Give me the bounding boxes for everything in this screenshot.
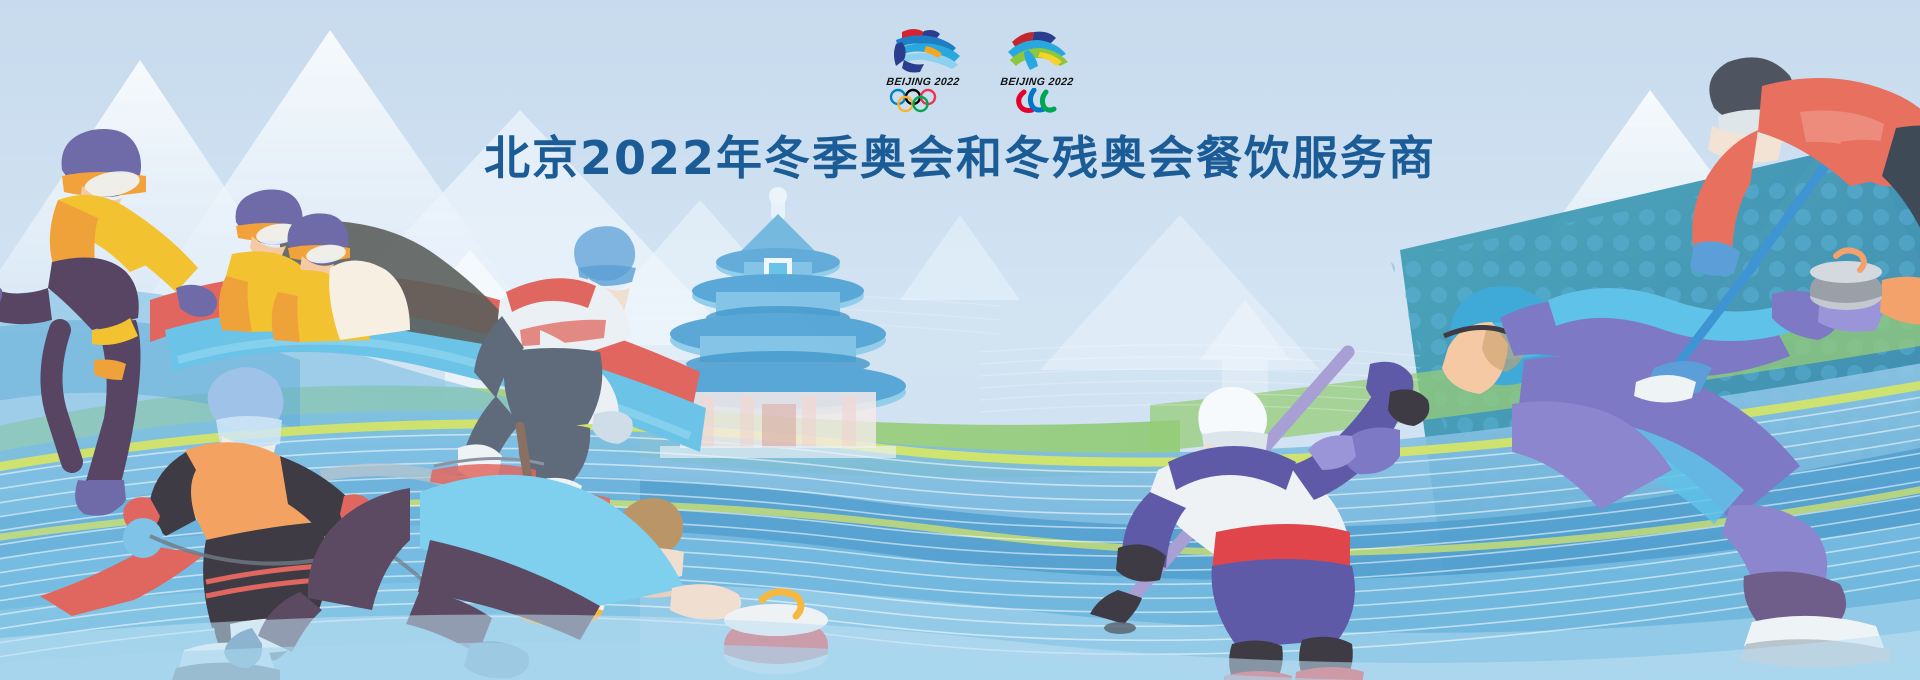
olympic-wordmark: BEIJING 2022: [879, 76, 966, 88]
paralympic-emblem[interactable]: BEIJING 2022: [994, 24, 1080, 116]
olympic-emblem[interactable]: BEIJING 2022: [880, 24, 966, 116]
dong-character-emblem: [880, 24, 966, 74]
paralympic-agitos: [994, 88, 1080, 114]
winter-olympics-banner: BEIJING 2022 BEIJING 2022: [0, 0, 1920, 680]
emblem-group: BEIJING 2022 BEIJING 2022: [880, 24, 1080, 116]
paralympic-wordmark: BEIJING 2022: [993, 76, 1080, 88]
fei-character-emblem: [994, 24, 1080, 74]
olympic-rings: [880, 88, 966, 114]
page-title: 北京2022年冬季奥会和冬残奥会餐饮服务商: [0, 122, 1920, 188]
